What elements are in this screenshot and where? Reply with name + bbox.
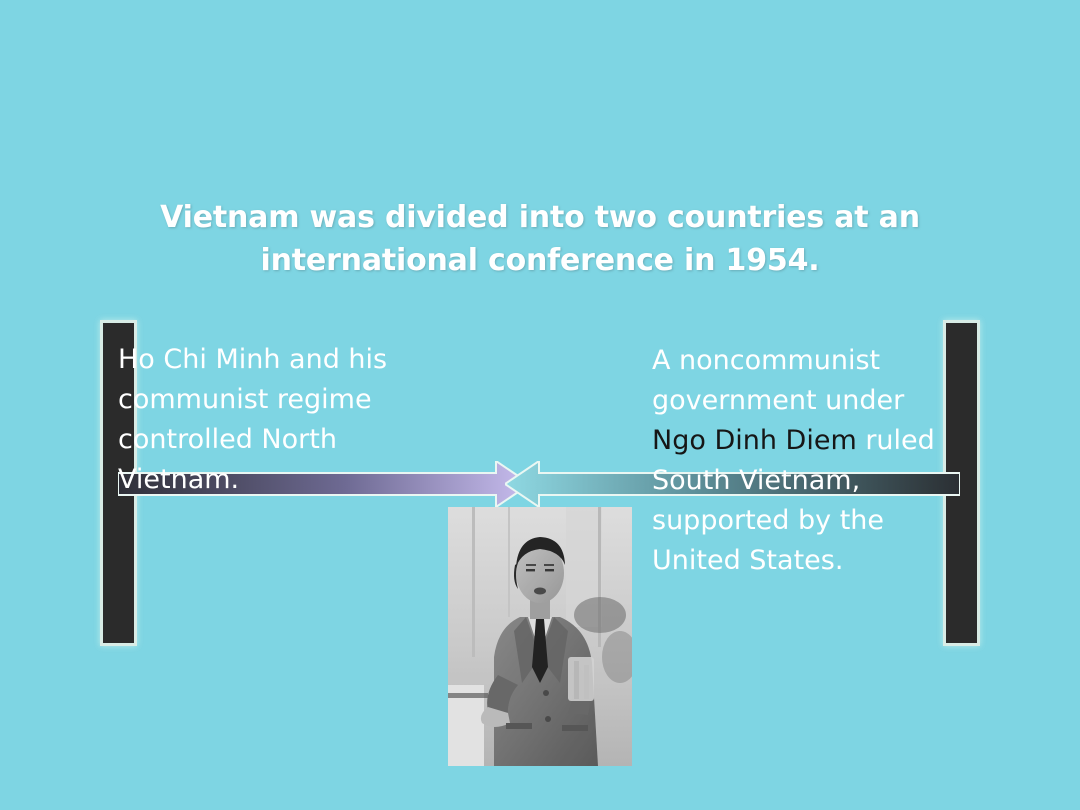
page-title: Vietnam was divided into two countries a… bbox=[110, 196, 970, 282]
right-text-block: A noncommunist government under Ngo Dinh… bbox=[652, 341, 952, 581]
right-text-part-1: A noncommunist government under bbox=[652, 345, 904, 416]
highlighted-leader-name: Ngo Dinh Diem bbox=[652, 425, 857, 456]
slide-canvas: Vietnam was divided into two countries a… bbox=[0, 0, 1080, 810]
left-text-block: Ho Chi Minh and his communist regime con… bbox=[118, 340, 448, 500]
portrait-photo-ngo-dinh-diem bbox=[448, 507, 632, 766]
